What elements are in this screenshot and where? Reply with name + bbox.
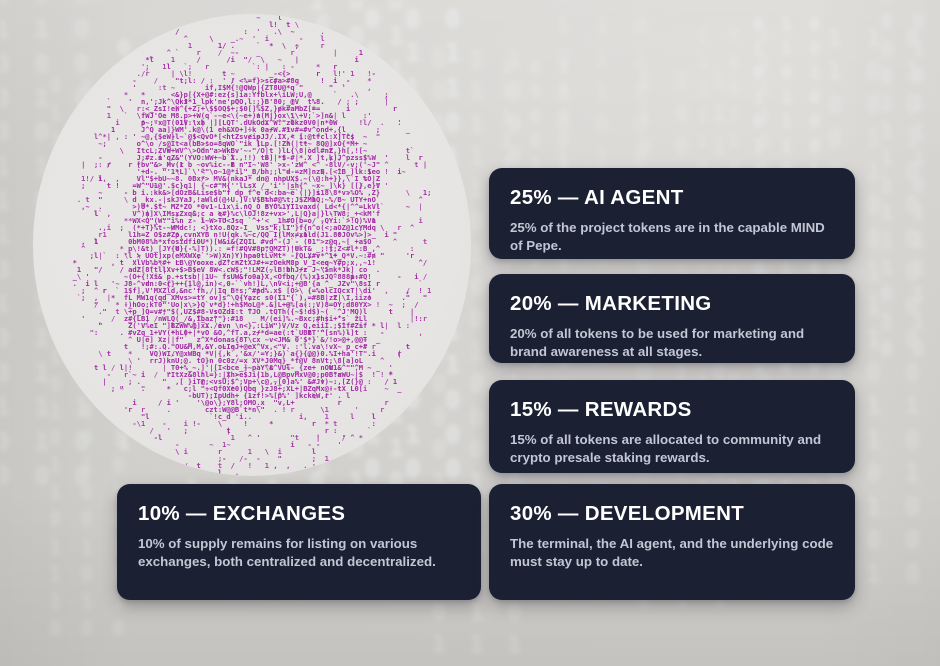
card-description: 15% of all tokens are allocated to commu…: [510, 431, 834, 467]
card-description: 25% of the project tokens are in the cap…: [510, 219, 834, 255]
tokenomics-card-ai-agent[interactable]: 25% — AI AGENT 25% of the project tokens…: [489, 168, 855, 259]
card-title: 15% — REWARDS: [510, 398, 834, 422]
card-description: 20% of all tokens to be used for marketi…: [510, 325, 834, 361]
tokenomics-card-exchanges[interactable]: 10% — EXCHANGES 10% of supply remains fo…: [117, 484, 481, 600]
ascii-art-cube-glyphs: t ' l! t: [33, 14, 471, 476]
card-description: 10% of supply remains for listing on var…: [138, 535, 460, 571]
card-title: 25% — AI AGENT: [510, 186, 834, 210]
card-description: The terminal, the AI agent, and the unde…: [510, 535, 834, 571]
card-title: 20% — MARKETING: [510, 292, 834, 316]
card-title: 30% — DEVELOPMENT: [510, 502, 834, 526]
tokenomics-card-marketing[interactable]: 20% — MARKETING 20% of all tokens to be …: [489, 274, 855, 363]
card-title: 10% — EXCHANGES: [138, 502, 460, 526]
tokenomics-card-development[interactable]: 30% — DEVELOPMENT The terminal, the AI a…: [489, 484, 855, 600]
tokenomics-card-rewards[interactable]: 15% — REWARDS 15% of all tokens are allo…: [489, 380, 855, 473]
ascii-cube-text: t ' l! t: [73, 14, 432, 476]
ascii-art-illustration: ~ l \ ' . .: [33, 14, 471, 476]
